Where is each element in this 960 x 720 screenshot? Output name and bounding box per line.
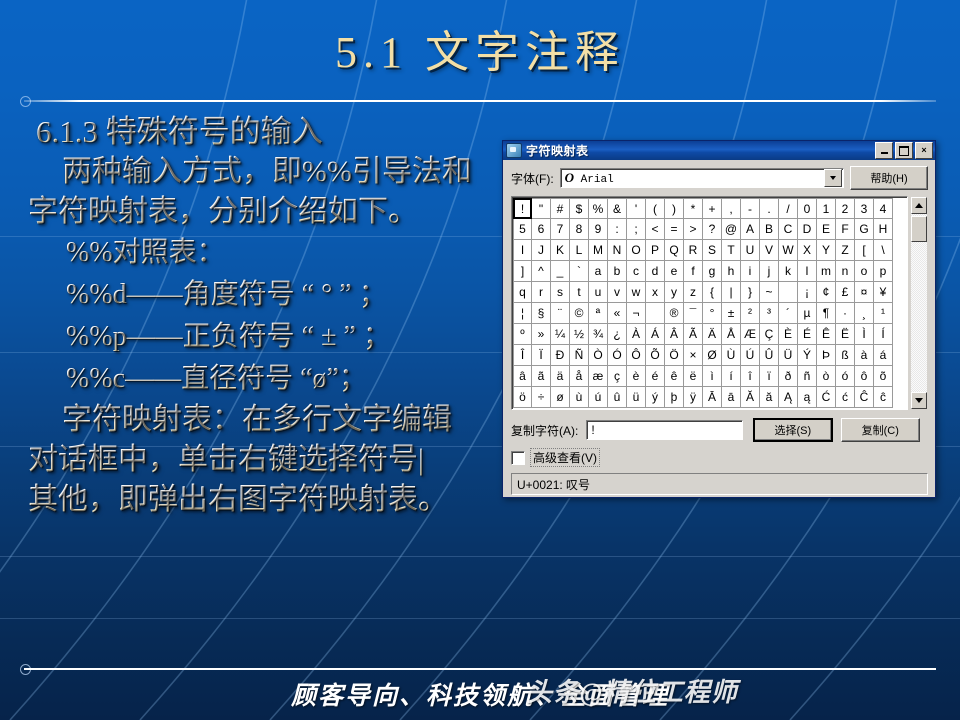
character-cell[interactable]: Y [817, 240, 836, 261]
character-cell[interactable]: ñ [798, 366, 817, 387]
character-cell[interactable]: ¨ [551, 303, 570, 324]
character-cell[interactable]: Ă [741, 387, 760, 408]
character-cell[interactable]: _ [551, 261, 570, 282]
character-cell[interactable]: M [589, 240, 608, 261]
character-cell[interactable]: k [779, 261, 798, 282]
background-band [0, 556, 960, 557]
character-cell[interactable]: c [627, 261, 646, 282]
character-cell[interactable]: 3 [855, 198, 874, 219]
character-cell[interactable]: Ā [703, 387, 722, 408]
character-cell[interactable]: ý [646, 387, 665, 408]
character-cell[interactable]: 8 [570, 219, 589, 240]
character-cell[interactable]: ç [608, 366, 627, 387]
character-cell[interactable]: \ [874, 240, 893, 261]
character-cell[interactable]: x [646, 282, 665, 303]
character-cell[interactable]: 4 [874, 198, 893, 219]
scrollbar-track[interactable] [911, 214, 927, 392]
character-cell[interactable]: U [741, 240, 760, 261]
character-cell[interactable]: Å [722, 324, 741, 345]
character-cell[interactable]: Ã [684, 324, 703, 345]
character-cell[interactable]: v [608, 282, 627, 303]
list-item: %%p——正负符号 “ ± ” ； [28, 316, 498, 358]
character-cell[interactable]: ò [817, 366, 836, 387]
character-cell[interactable]: ¸ [855, 303, 874, 324]
character-cell[interactable]: ù [570, 387, 589, 408]
character-cell[interactable]: ü [627, 387, 646, 408]
character-cell[interactable]: 6 [532, 219, 551, 240]
character-cell[interactable]: h [722, 261, 741, 282]
character-cell[interactable]: É [798, 324, 817, 345]
character-cell[interactable]: V [760, 240, 779, 261]
character-grid-wrapper: !"#$%&'()*+,-./0123456789:;<=>?@ABCDEFGH… [511, 196, 928, 410]
character-cell[interactable]: Ê [817, 324, 836, 345]
character-cell[interactable]: 2 [836, 198, 855, 219]
character-cell[interactable]: × [684, 345, 703, 366]
character-cell[interactable]: Ó [608, 345, 627, 366]
character-cell[interactable]: ® [665, 303, 684, 324]
character-cell[interactable]: e [665, 261, 684, 282]
character-cell[interactable]: ä [551, 366, 570, 387]
character-cell[interactable]: Õ [646, 345, 665, 366]
character-cell[interactable]: è [627, 366, 646, 387]
character-cell[interactable]: Q [665, 240, 684, 261]
character-cell[interactable]: [ [855, 240, 874, 261]
character-cell[interactable]: q [513, 282, 532, 303]
character-cell[interactable]: Ö [665, 345, 684, 366]
character-cell[interactable]: ¹ [874, 303, 893, 324]
character-cell[interactable]: © [570, 303, 589, 324]
character-cell[interactable]: î [741, 366, 760, 387]
character-cell[interactable]: ì [703, 366, 722, 387]
character-cell[interactable]: õ [874, 366, 893, 387]
scroll-up-icon[interactable] [911, 197, 927, 214]
font-select[interactable]: O Arial [560, 168, 844, 188]
character-cell[interactable]: Ð [551, 345, 570, 366]
maximize-button[interactable] [895, 142, 913, 159]
character-cell[interactable]: B [760, 219, 779, 240]
character-cell[interactable]: ¾ [589, 324, 608, 345]
section-heading: 6.1.3 特殊符号的输入 [36, 112, 498, 152]
dialog-title-bar[interactable]: 字符映射表 × [503, 141, 935, 160]
character-cell[interactable]: º [513, 324, 532, 345]
page-title: 5.1 文字注释 [0, 16, 960, 80]
character-cell[interactable]: - [741, 198, 760, 219]
character-cell[interactable]: ) [665, 198, 684, 219]
character-cell[interactable]: r [532, 282, 551, 303]
character-cell[interactable]: ¥ [874, 282, 893, 303]
character-cell[interactable]: þ [665, 387, 684, 408]
character-grid-row: !"#$%&'()*+,-./01234 [513, 198, 906, 219]
character-cell[interactable]: ` [570, 261, 589, 282]
character-cell[interactable]: P [646, 240, 665, 261]
character-cell[interactable]: 9 [589, 219, 608, 240]
character-cell[interactable]: ¼ [551, 324, 570, 345]
character-cell[interactable]: A [741, 219, 760, 240]
character-cell[interactable]: C [779, 219, 798, 240]
font-name: Arial [581, 174, 614, 186]
copy-button[interactable]: 复制(C) [841, 418, 920, 442]
character-cell[interactable]: Ü [779, 345, 798, 366]
charmap-icon [506, 143, 522, 158]
closing-line-1: 字符映射表：在多行文字编辑 [28, 400, 498, 440]
close-button[interactable]: × [915, 142, 933, 159]
dialog-title: 字符映射表 [526, 142, 875, 159]
character-cell[interactable]: j [760, 261, 779, 282]
character-grid-row: IJKLMNOPQRSTUVWXYZ[\ [513, 240, 906, 261]
character-cell[interactable]: £ [836, 282, 855, 303]
character-cell[interactable]: ¢ [817, 282, 836, 303]
character-cell[interactable]: ! [513, 198, 532, 219]
scroll-down-icon[interactable] [911, 392, 927, 409]
character-cell[interactable]: Î [513, 345, 532, 366]
character-cell[interactable]: ~ [760, 282, 779, 303]
character-cell[interactable]: Z [836, 240, 855, 261]
window-controls: × [875, 142, 933, 159]
character-cell[interactable]: f [684, 261, 703, 282]
character-cell[interactable]: S [703, 240, 722, 261]
character-cell[interactable]: ¦ [513, 303, 532, 324]
character-cell[interactable]: = [665, 219, 684, 240]
character-cell[interactable]: > [684, 219, 703, 240]
character-cell[interactable]: 0 [798, 198, 817, 219]
character-cell[interactable]: ć [836, 387, 855, 408]
character-cell[interactable]: Ë [836, 324, 855, 345]
character-cell[interactable]: · [836, 303, 855, 324]
dialog-body: 字体(F): O Arial 帮助(H) !"#$%&'()*+,-./0123… [503, 160, 935, 501]
character-cell[interactable]: Ĉ [855, 387, 874, 408]
character-cell[interactable]: : [608, 219, 627, 240]
character-cell[interactable]: 1 [817, 198, 836, 219]
minimize-button[interactable] [875, 142, 893, 159]
character-cell[interactable]: < [646, 219, 665, 240]
character-cell[interactable]: ó [836, 366, 855, 387]
character-cell[interactable]: Ï [532, 345, 551, 366]
character-cell[interactable]: ð [779, 366, 798, 387]
character-cell[interactable]: ¡ [798, 282, 817, 303]
character-cell[interactable]: p [874, 261, 893, 282]
character-cell[interactable]: Ý [798, 345, 817, 366]
character-cell[interactable]: û [608, 387, 627, 408]
paragraph-line-2: 字符映射表，分别介绍如下。 [28, 192, 498, 232]
footer-divider [24, 668, 936, 670]
character-cell[interactable]: í [722, 366, 741, 387]
character-cell[interactable]: Á [646, 324, 665, 345]
header-divider [24, 100, 936, 102]
help-button[interactable]: 帮助(H) [850, 166, 928, 190]
character-cell[interactable]: â [513, 366, 532, 387]
character-map-dialog: 字符映射表 × 字体(F): O Arial 帮助(H) !"#$%&'()*+… [502, 140, 936, 498]
copy-characters-input[interactable]: ! [586, 420, 743, 440]
character-grid-row: qrstuvwxyz{|}~ ¡¢£¤¥ [513, 282, 906, 303]
character-cell[interactable]: ª [589, 303, 608, 324]
character-cell[interactable]: ¿ [608, 324, 627, 345]
closing-line-2: 对话框中，单击右键选择符号| [28, 440, 498, 480]
character-cell[interactable]: Æ [741, 324, 760, 345]
character-cell[interactable]: & [608, 198, 627, 219]
character-cell[interactable]: ë [684, 366, 703, 387]
character-cell[interactable]: ā [722, 387, 741, 408]
character-cell[interactable]: ĉ [874, 387, 893, 408]
character-cell[interactable]: ø [551, 387, 570, 408]
character-cell[interactable]: H [874, 219, 893, 240]
character-cell[interactable]: Ù [722, 345, 741, 366]
presentation-slide: 5.1 文字注释 6.1.3 特殊符号的输入 两种输入方式，即%%引导法和 字符… [0, 0, 960, 720]
character-grid-row: ]^_`abcdefghijklmnop [513, 261, 906, 282]
character-cell[interactable]: u [589, 282, 608, 303]
character-grid[interactable]: !"#$%&'()*+,-./0123456789:;<=>?@ABCDEFGH… [511, 196, 908, 410]
character-cell[interactable]: I [513, 240, 532, 261]
character-cell[interactable]: # [551, 198, 570, 219]
character-cell[interactable]: 7 [551, 219, 570, 240]
character-cell[interactable]: « [608, 303, 627, 324]
character-cell[interactable]: ¶ [817, 303, 836, 324]
character-cell[interactable]: y [665, 282, 684, 303]
chevron-down-icon[interactable] [824, 169, 842, 187]
character-cell[interactable]: ¤ [855, 282, 874, 303]
character-cell[interactable]: X [798, 240, 817, 261]
font-label: 字体(F): [511, 170, 554, 187]
character-cell[interactable]: ] [513, 261, 532, 282]
character-cell[interactable]: 5 [513, 219, 532, 240]
character-cell[interactable]: " [532, 198, 551, 219]
character-cell[interactable]: / [779, 198, 798, 219]
character-cell[interactable]: Ç [760, 324, 779, 345]
character-cell[interactable]: ô [855, 366, 874, 387]
character-cell[interactable]: Û [760, 345, 779, 366]
character-cell[interactable]: ú [589, 387, 608, 408]
character-cell[interactable]: Í [874, 324, 893, 345]
character-cell[interactable]: ½ [570, 324, 589, 345]
character-cell[interactable]: Â [665, 324, 684, 345]
background-band [0, 618, 960, 619]
character-cell[interactable]: ÿ [684, 387, 703, 408]
character-cell[interactable]: | [722, 282, 741, 303]
font-row: 字体(F): O Arial 帮助(H) [511, 166, 928, 190]
character-cell[interactable]: t [570, 282, 589, 303]
grid-scrollbar[interactable] [910, 196, 928, 410]
character-cell[interactable]: g [703, 261, 722, 282]
advanced-view-label: 高级查看(V) [530, 448, 600, 467]
character-cell[interactable]: + [703, 198, 722, 219]
character-cell[interactable]: b [608, 261, 627, 282]
character-cell[interactable]: G [855, 219, 874, 240]
character-cell[interactable]: µ [798, 303, 817, 324]
character-cell[interactable]: Þ [817, 345, 836, 366]
character-cell[interactable]: s [551, 282, 570, 303]
character-cell[interactable]: æ [589, 366, 608, 387]
character-cell[interactable]: . [760, 198, 779, 219]
character-cell[interactable]: @ [722, 219, 741, 240]
character-cell[interactable]: ¯ [684, 303, 703, 324]
table-intro-line: %%对照表： [28, 232, 498, 274]
character-cell[interactable]: ã [532, 366, 551, 387]
closing-line-3: 其他，即弹出右图字符映射表。 [28, 480, 498, 520]
character-cell[interactable]: Ì [855, 324, 874, 345]
character-cell[interactable]: L [570, 240, 589, 261]
character-cell[interactable]: i [741, 261, 760, 282]
list-item: %%d——角度符号 “ ° ” ； [28, 274, 498, 316]
character-cell[interactable]: á [874, 345, 893, 366]
character-cell[interactable]: ´ [779, 303, 798, 324]
character-cell[interactable]: o [855, 261, 874, 282]
character-grid-row: º»¼½¾¿ÀÁÂÃÄÅÆÇÈÉÊËÌÍ [513, 324, 906, 345]
character-cell[interactable]: z [684, 282, 703, 303]
character-grid-row: ö÷øùúûüýþÿĀāĂăĄąĆćĈĉ [513, 387, 906, 408]
paragraph-line-1: 两种输入方式，即%%引导法和 [28, 152, 498, 192]
advanced-view-checkbox[interactable] [511, 451, 525, 465]
character-cell[interactable]: ï [760, 366, 779, 387]
character-cell[interactable]: E [817, 219, 836, 240]
character-cell[interactable]: O [627, 240, 646, 261]
character-grid-row: 56789:;<=>?@ABCDEFGH [513, 219, 906, 240]
character-cell[interactable]: å [570, 366, 589, 387]
character-cell[interactable]: È [779, 324, 798, 345]
character-cell[interactable]: J [532, 240, 551, 261]
scrollbar-thumb[interactable] [911, 216, 927, 242]
opentype-icon: O [565, 170, 574, 185]
character-cell[interactable]: Ñ [570, 345, 589, 366]
character-cell[interactable]: T [722, 240, 741, 261]
character-cell[interactable]: » [532, 324, 551, 345]
character-cell[interactable]: K [551, 240, 570, 261]
character-grid-row: ÎÏÐÑÒÓÔÕÖ×ØÙÚÛÜÝÞßàá [513, 345, 906, 366]
character-cell[interactable]: a [589, 261, 608, 282]
character-cell[interactable]: § [532, 303, 551, 324]
character-cell[interactable]: { [703, 282, 722, 303]
character-grid-row: âãäåæçèéêëìíîïðñòóôõ [513, 366, 906, 387]
character-cell[interactable]: Ø [703, 345, 722, 366]
character-cell[interactable]: ° [703, 303, 722, 324]
character-cell[interactable]: ; [627, 219, 646, 240]
character-grid-row: ¦§¨©ª«¬­®¯°±²³´µ¶·¸¹ [513, 303, 906, 324]
character-cell[interactable]: N [608, 240, 627, 261]
character-cell[interactable]: Ć [817, 387, 836, 408]
character-cell[interactable]: ^ [532, 261, 551, 282]
character-cell[interactable]: ą [798, 387, 817, 408]
character-cell[interactable]: à [855, 345, 874, 366]
character-cell[interactable] [779, 282, 798, 303]
copy-characters-label: 复制字符(A): [511, 422, 578, 439]
advanced-view-row[interactable]: 高级查看(V) [511, 448, 928, 467]
character-cell[interactable]: ± [722, 303, 741, 324]
character-cell[interactable]: Ô [627, 345, 646, 366]
character-cell[interactable]: F [836, 219, 855, 240]
character-cell[interactable]: } [741, 282, 760, 303]
character-cell[interactable]: D [798, 219, 817, 240]
character-cell[interactable]: ­ [646, 303, 665, 324]
character-cell[interactable]: é [646, 366, 665, 387]
character-cell[interactable]: $ [570, 198, 589, 219]
watermark-text: 头条@精位工程师 [152, 672, 960, 709]
character-cell[interactable]: ¬ [627, 303, 646, 324]
copy-characters-row: 复制字符(A): ! 选择(S) 复制(C) [511, 418, 928, 442]
character-cell[interactable]: ² [741, 303, 760, 324]
character-cell[interactable]: Ò [589, 345, 608, 366]
character-cell[interactable]: m [817, 261, 836, 282]
character-cell[interactable]: ? [703, 219, 722, 240]
character-cell[interactable]: À [627, 324, 646, 345]
character-cell[interactable]: W [779, 240, 798, 261]
character-cell[interactable]: ê [665, 366, 684, 387]
character-cell[interactable]: d [646, 261, 665, 282]
character-cell[interactable]: ' [627, 198, 646, 219]
character-cell[interactable]: % [589, 198, 608, 219]
character-cell[interactable]: , [722, 198, 741, 219]
slide-body: 6.1.3 特殊符号的输入 两种输入方式，即%%引导法和 字符映射表，分别介绍如… [28, 112, 498, 520]
character-cell[interactable]: ă [760, 387, 779, 408]
list-item: %%c——直径符号 “ø”； [28, 358, 498, 400]
status-bar: U+0021: 叹号 [511, 473, 928, 495]
character-cell[interactable]: Ú [741, 345, 760, 366]
character-cell[interactable]: n [836, 261, 855, 282]
character-cell[interactable]: ³ [760, 303, 779, 324]
character-cell[interactable]: Ą [779, 387, 798, 408]
character-cell[interactable]: ö [513, 387, 532, 408]
character-cell[interactable]: R [684, 240, 703, 261]
character-cell[interactable]: ( [646, 198, 665, 219]
character-cell[interactable]: ÷ [532, 387, 551, 408]
character-cell[interactable]: * [684, 198, 703, 219]
select-button[interactable]: 选择(S) [753, 418, 832, 442]
character-cell[interactable]: l [798, 261, 817, 282]
character-cell[interactable]: w [627, 282, 646, 303]
character-cell[interactable]: ß [836, 345, 855, 366]
font-value: O Arial [561, 170, 824, 186]
character-cell[interactable]: Ä [703, 324, 722, 345]
